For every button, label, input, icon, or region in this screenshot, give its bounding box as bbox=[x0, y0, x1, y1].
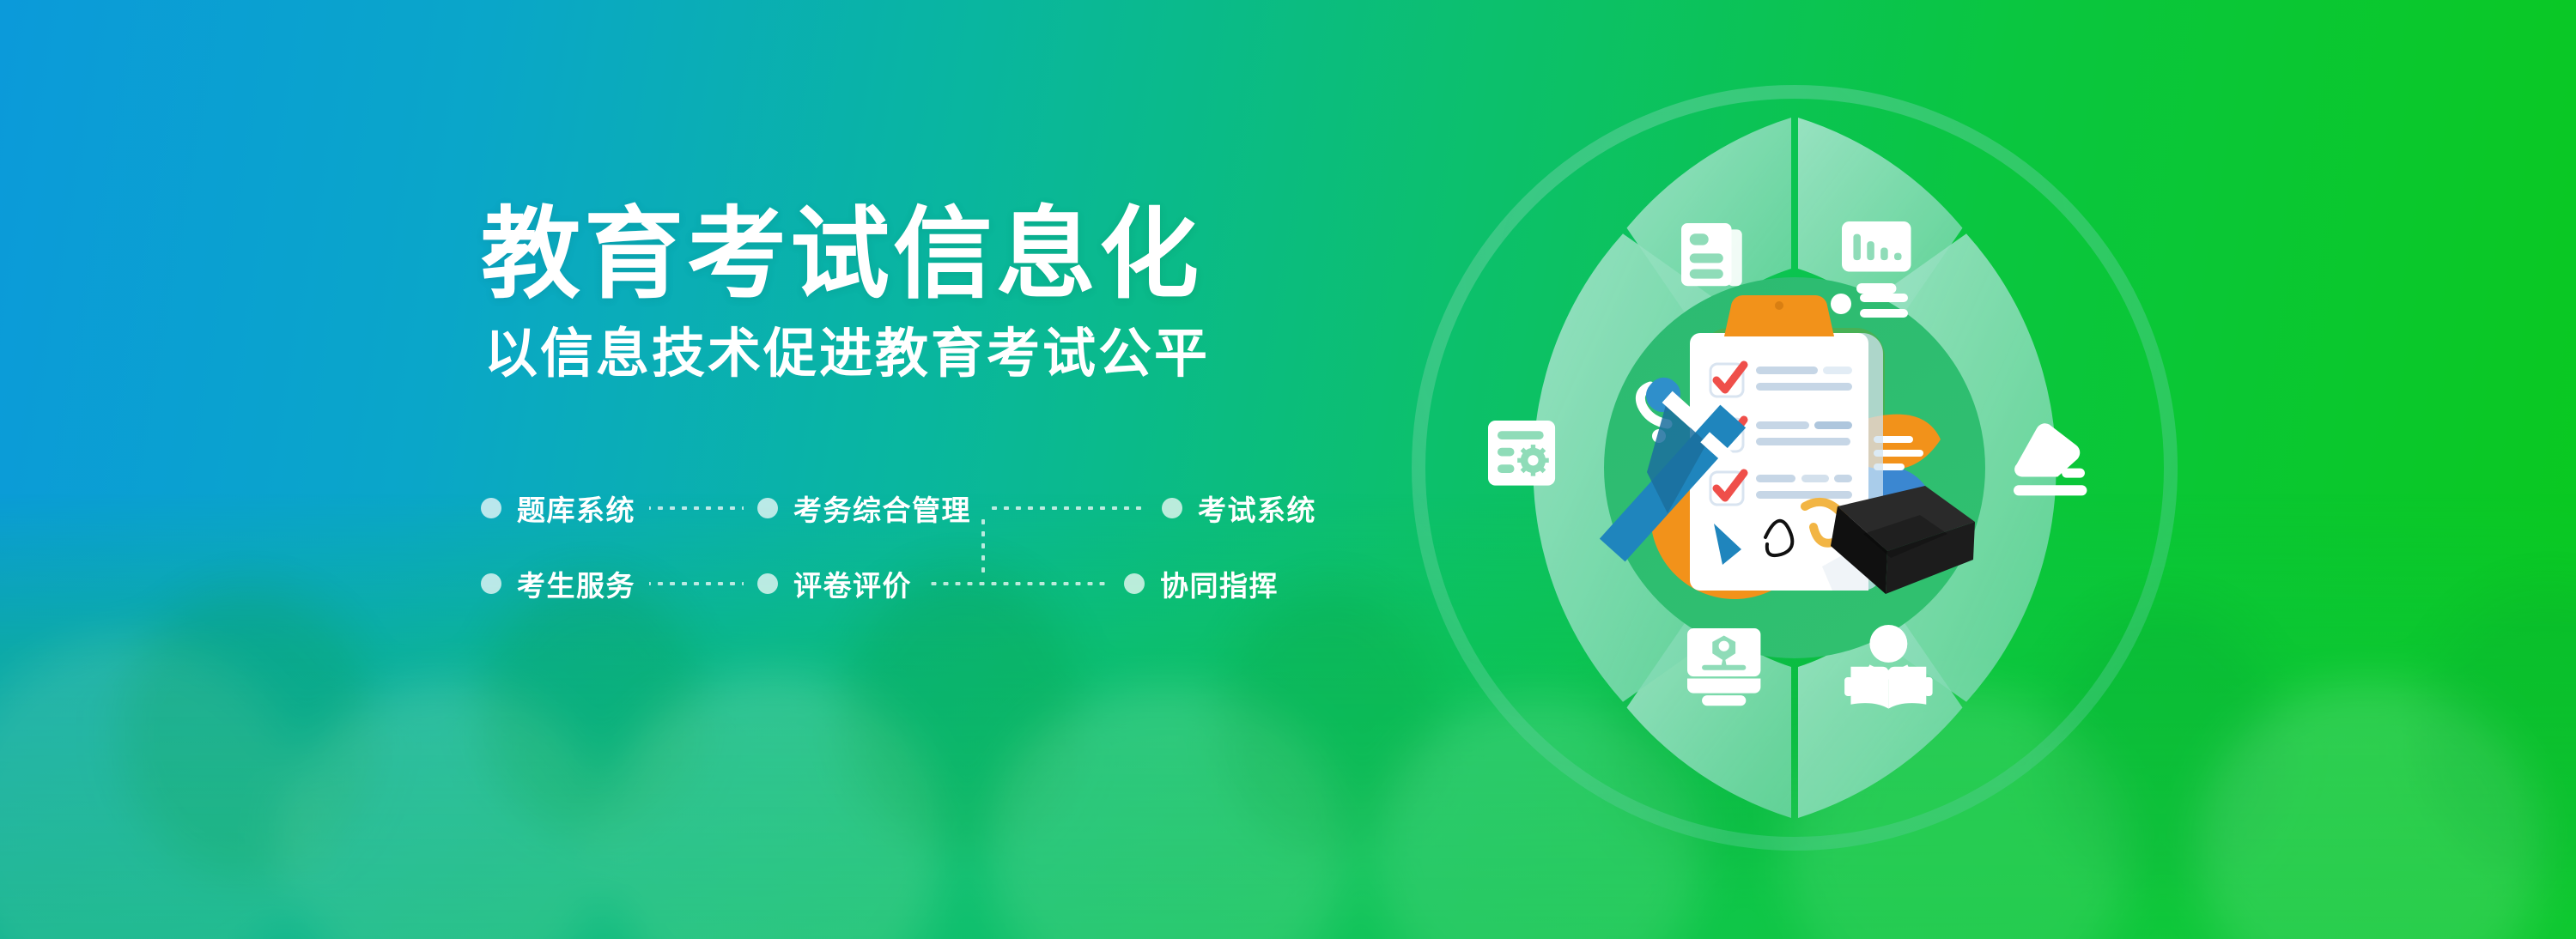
document-icon bbox=[1681, 223, 1742, 286]
feature-label-xietong[interactable]: 协同指挥 bbox=[1160, 563, 1279, 604]
education-exam-banner: 教育考试信息化 以信息技术促进教育考试公平 题库系统 考务综合管理 考试系统 考… bbox=[0, 0, 2576, 939]
bullet-dot-icon bbox=[1124, 573, 1145, 594]
feature-row-1: 题库系统 考务综合管理 考试系统 bbox=[481, 485, 1219, 531]
bullet-dot-icon bbox=[481, 573, 501, 594]
page-subtitle: 以信息技术促进教育考试公平 bbox=[484, 325, 1382, 384]
bullet-dot-icon bbox=[1162, 498, 1182, 518]
feature-label-tiku[interactable]: 题库系统 bbox=[517, 488, 635, 529]
dotted-connector bbox=[649, 582, 744, 585]
dotted-connector bbox=[926, 582, 1110, 585]
feature-row-2: 考生服务 评卷评价 协同指挥 bbox=[481, 560, 1219, 607]
legend-dot bbox=[1831, 294, 1851, 314]
bullet-dot-icon bbox=[481, 498, 501, 518]
dotted-connector bbox=[985, 506, 1148, 510]
bullet-dot-icon bbox=[757, 573, 778, 594]
feature-label-pingjuan[interactable]: 评卷评价 bbox=[793, 563, 912, 604]
crowd-overlay-gradient bbox=[0, 493, 2576, 939]
feature-label-kaosheng[interactable]: 考生服务 bbox=[517, 563, 635, 604]
feature-label-kaowu[interactable]: 考务综合管理 bbox=[793, 488, 971, 529]
page-title: 教育考试信息化 bbox=[481, 203, 1382, 306]
feature-list: 题库系统 考务综合管理 考试系统 考生服务 评卷评价 协同指挥 bbox=[481, 485, 1219, 607]
clipboard-checklist-illustration bbox=[1606, 283, 1984, 652]
blurred-crowd-background bbox=[0, 536, 2576, 939]
exam-system-wheel bbox=[1413, 86, 2177, 850]
vertical-dotted-connector bbox=[981, 518, 985, 574]
dotted-connector bbox=[649, 506, 744, 510]
bullet-dot-icon bbox=[757, 498, 778, 518]
headline-block: 教育考试信息化 以信息技术促进教育考试公平 bbox=[481, 203, 1382, 384]
feature-label-kaoshi[interactable]: 考试系统 bbox=[1198, 488, 1316, 529]
settings-list-icon bbox=[1488, 421, 1555, 486]
